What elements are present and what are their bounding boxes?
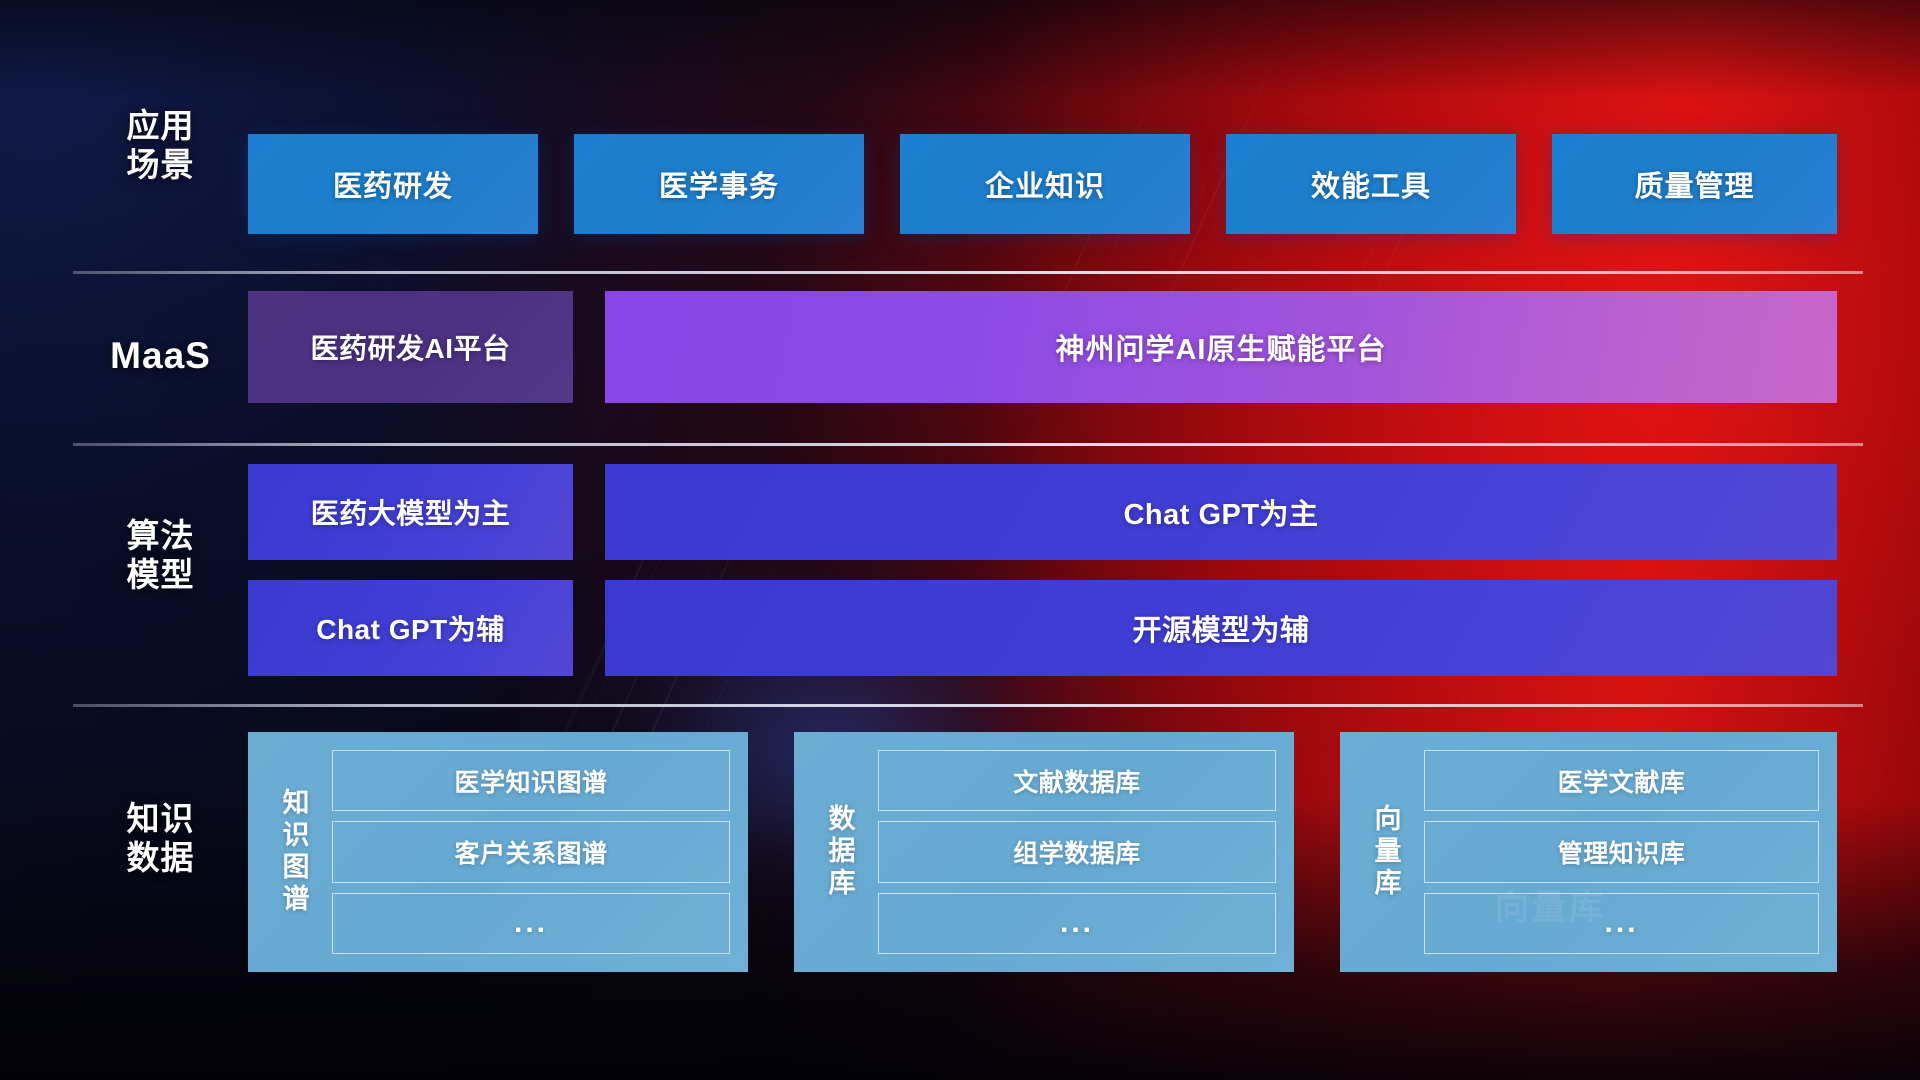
algo-box-chatgpt-secondary[interactable]: Chat GPT为辅 [248,580,573,676]
app-box-1-label: 医药研发 [333,163,453,205]
app-box-4[interactable]: 效能工具 [1226,134,1516,234]
divider-3 [73,704,1863,707]
knowledge-item[interactable]: 医学知识图谱 [332,750,730,811]
algo-box-opensource-secondary-label: 开源模型为辅 [1132,607,1309,649]
app-box-4-label: 效能工具 [1311,163,1431,205]
knowledge-panel-database[interactable]: 数据库 文献数据库 组学数据库 ... [794,732,1294,972]
divider-2 [73,443,1863,446]
row-label-application-scenarios: 应用 场景 [73,107,248,185]
algo-box-medical-llm-primary[interactable]: 医药大模型为主 [248,464,573,560]
algo-box-chatgpt-primary-label: Chat GPT为主 [1123,491,1318,533]
knowledge-item-more[interactable]: ... [878,893,1276,954]
knowledge-panel-database-title: 数据库 [804,744,874,960]
maas-box-medical-rd-platform[interactable]: 医药研发AI平台 [248,291,573,403]
knowledge-panel-knowledge-graph-items: 医学知识图谱 客户关系图谱 ... [328,744,734,960]
knowledge-item[interactable]: 文献数据库 [878,750,1276,811]
knowledge-panel-vector-store[interactable]: 向量库 医学文献库 管理知识库 ... [1340,732,1837,972]
row-label-algorithm-model: 算法 模型 [73,517,248,595]
knowledge-item-more[interactable]: ... [332,893,730,954]
knowledge-item[interactable]: 客户关系图谱 [332,821,730,882]
knowledge-panel-database-items: 文献数据库 组学数据库 ... [874,744,1280,960]
app-box-1[interactable]: 医药研发 [248,134,538,234]
app-box-2-label: 医学事务 [659,163,779,205]
app-box-5[interactable]: 质量管理 [1552,134,1837,234]
app-box-3[interactable]: 企业知识 [900,134,1190,234]
algo-box-chatgpt-primary[interactable]: Chat GPT为主 [605,464,1837,560]
divider-1 [73,271,1863,274]
maas-box-shenzhou-platform[interactable]: 神州问学AI原生赋能平台 [605,291,1837,403]
algo-box-medical-llm-primary-label: 医药大模型为主 [311,492,511,532]
app-box-3-label: 企业知识 [985,163,1105,205]
row-label-knowledge-data: 知识 数据 [73,800,248,878]
row-label-maas: MaaS [73,334,248,378]
knowledge-panel-knowledge-graph-title: 知识图谱 [258,744,328,960]
knowledge-item-more[interactable]: ... [1424,893,1819,954]
knowledge-item[interactable]: 组学数据库 [878,821,1276,882]
app-box-2[interactable]: 医学事务 [574,134,864,234]
algo-box-chatgpt-secondary-label: Chat GPT为辅 [316,608,505,648]
knowledge-panel-vector-store-items: 医学文献库 管理知识库 ... [1420,744,1823,960]
knowledge-panel-vector-store-title: 向量库 [1350,744,1420,960]
maas-box-shenzhou-platform-label: 神州问学AI原生赋能平台 [1055,326,1386,368]
app-box-5-label: 质量管理 [1634,163,1754,205]
diagram-stage: 应用 场景 医药研发 医学事务 企业知识 效能工具 质量管理 MaaS 医药研发… [0,0,1920,1080]
knowledge-item[interactable]: 管理知识库 [1424,821,1819,882]
algo-box-opensource-secondary[interactable]: 开源模型为辅 [605,580,1837,676]
maas-box-medical-rd-platform-label: 医药研发AI平台 [310,327,510,367]
knowledge-item[interactable]: 医学文献库 [1424,750,1819,811]
knowledge-panel-knowledge-graph[interactable]: 知识图谱 医学知识图谱 客户关系图谱 ... [248,732,748,972]
